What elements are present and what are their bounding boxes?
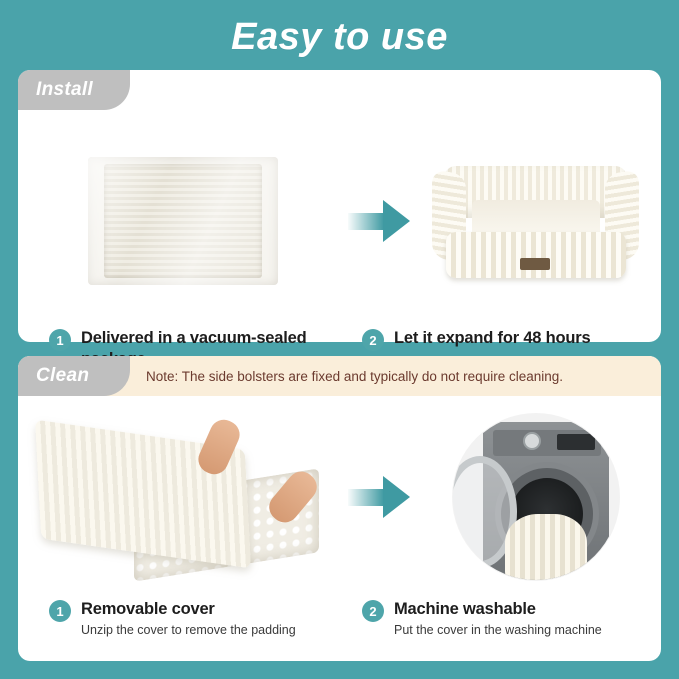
clean-banner-note: Note: The side bolsters are fixed and ty… <box>146 369 563 384</box>
page-title: Easy to use <box>0 0 679 70</box>
vacuum-sealed-package-image <box>18 157 348 285</box>
arrow-right-icon <box>348 200 410 242</box>
step-number-badge: 1 <box>49 600 71 622</box>
step-number-badge: 2 <box>362 329 384 351</box>
clean-step-2: 2 Machine washable Put the cover in the … <box>362 599 661 637</box>
install-section-card: Install 1 Deli <box>18 70 661 342</box>
install-image-row <box>18 118 661 323</box>
clean-section-card: Note: The side bolsters are fixed and ty… <box>18 356 661 661</box>
expanded-dog-bed-image <box>410 160 661 282</box>
arrow-right-icon <box>348 476 410 518</box>
step-title: Machine washable <box>394 599 602 620</box>
brand-label-tag <box>520 258 550 270</box>
washer-display <box>557 434 595 450</box>
washer-dial-icon <box>523 432 541 450</box>
clean-image-row <box>18 404 661 589</box>
step-subtitle: Put the cover in the washing machine <box>394 623 602 637</box>
hands-removing-cover-image <box>18 417 348 577</box>
step-number-badge: 1 <box>49 329 71 351</box>
step-number-badge: 2 <box>362 600 384 622</box>
clean-section-badge: Clean <box>18 356 130 396</box>
step-subtitle: Unzip the cover to remove the padding <box>81 623 296 637</box>
clean-step-1: 1 Removable cover Unzip the cover to rem… <box>18 599 362 637</box>
clean-steps: 1 Removable cover Unzip the cover to rem… <box>18 599 661 637</box>
step-title: Removable cover <box>81 599 296 620</box>
step-title: Let it expand for 48 hours <box>394 328 656 349</box>
washing-machine-image <box>410 414 661 580</box>
install-section-badge: Install <box>18 70 130 110</box>
